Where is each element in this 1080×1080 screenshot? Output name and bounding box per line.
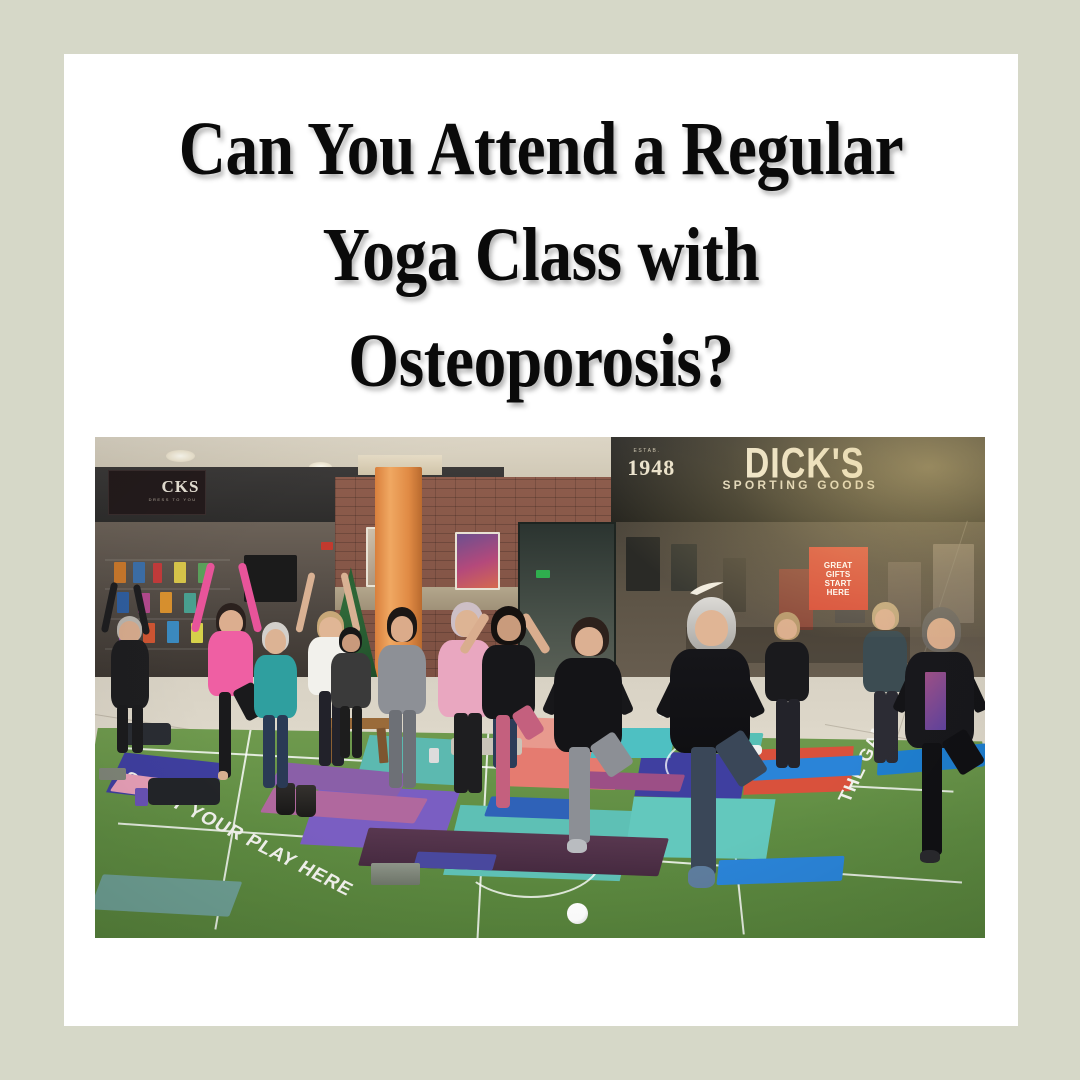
yoga-block bbox=[99, 768, 126, 780]
estab-label: ESTAB. bbox=[633, 448, 660, 454]
left-store-sign-text: CKS bbox=[109, 477, 205, 497]
promo-line-2: GIFTS bbox=[826, 570, 851, 579]
nike-swoosh-icon bbox=[687, 582, 727, 595]
yoga-instructor-foreground bbox=[656, 597, 767, 903]
promo-line-3: START bbox=[825, 579, 852, 588]
yoga-participant-foreground bbox=[892, 607, 985, 868]
promo-sign-text: GREAT GIFTS START HERE bbox=[824, 561, 852, 597]
yoga-mat-towel bbox=[413, 851, 497, 870]
poster-card: Can You Attend a Regular Yoga Class with… bbox=[64, 54, 1018, 1026]
yoga-participant-foreground bbox=[540, 617, 638, 857]
yoga-participant bbox=[366, 607, 437, 787]
poster-canvas: Can You Attend a Regular Yoga Class with… bbox=[0, 0, 1080, 1080]
promo-line-1: GREAT bbox=[824, 561, 852, 570]
yoga-participant bbox=[469, 602, 549, 807]
left-store-sign-subtext: DRESS TO YOU bbox=[109, 497, 205, 502]
ceiling-light-icon bbox=[166, 450, 194, 462]
soccer-ball-icon bbox=[567, 903, 588, 924]
yoga-participant bbox=[242, 622, 309, 787]
exit-sign-icon bbox=[536, 570, 550, 578]
boots bbox=[296, 785, 316, 817]
yoga-participant bbox=[99, 582, 161, 752]
water-bottle bbox=[135, 788, 147, 806]
promo-sign: GREAT GIFTS START HERE bbox=[809, 547, 868, 610]
yoga-participant bbox=[754, 612, 821, 767]
hero-photo: CKS DRESS TO YOU bbox=[95, 437, 985, 938]
yoga-mat bbox=[95, 874, 243, 916]
page-title: Can You Attend a Regular Yoga Class with… bbox=[131, 96, 951, 414]
backpack bbox=[148, 778, 219, 806]
promo-line-4: HERE bbox=[827, 588, 850, 597]
dicks-brand-subtitle: SPORTING GOODS bbox=[722, 478, 877, 492]
wall-artwork bbox=[455, 532, 500, 590]
estab-year: 1948 bbox=[627, 455, 675, 481]
photo-scene: CKS DRESS TO YOU bbox=[95, 437, 985, 938]
exit-sign-icon bbox=[321, 542, 333, 550]
yoga-block bbox=[371, 863, 420, 886]
left-store-sign: CKS DRESS TO YOU bbox=[108, 470, 206, 515]
